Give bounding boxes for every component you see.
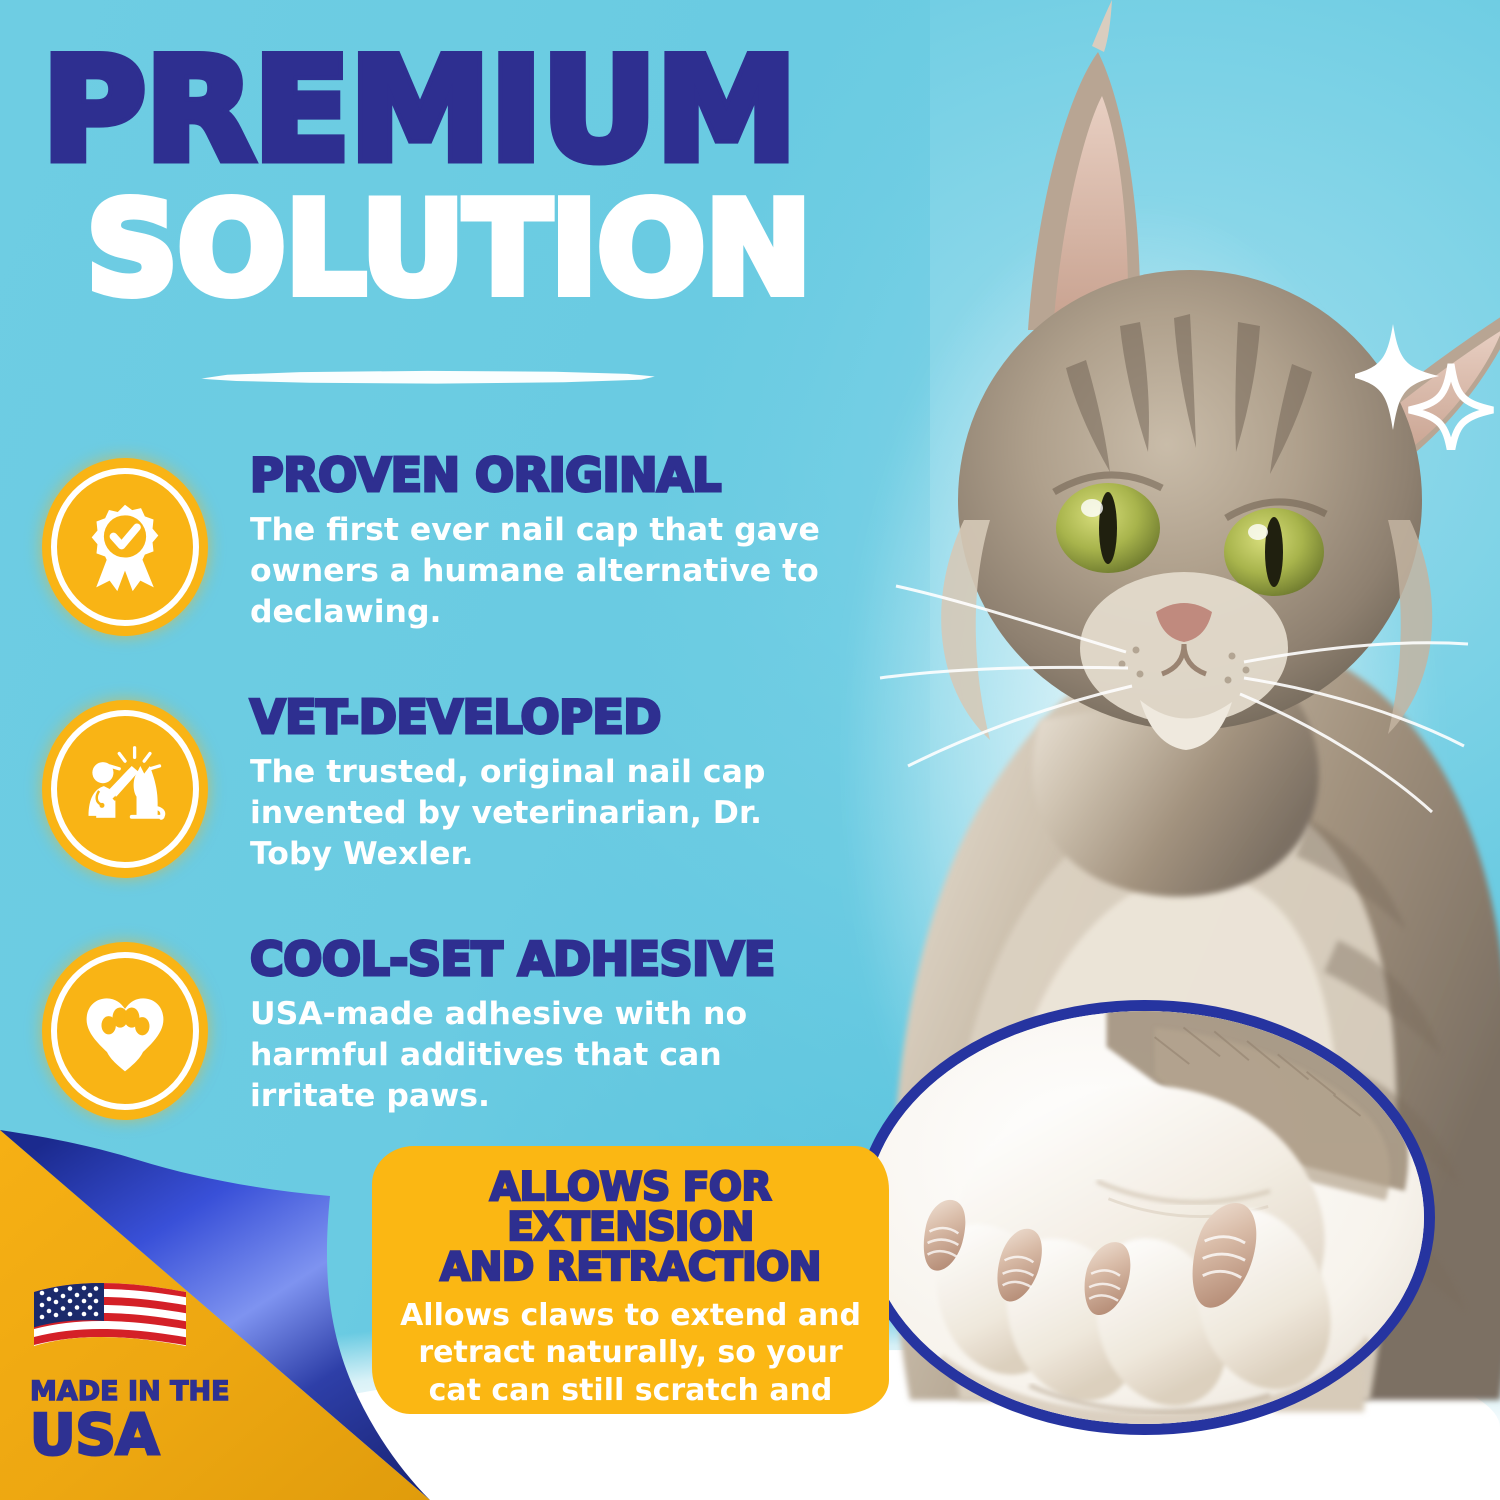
- made-in-usa-line-1: MADE IN THE: [30, 1378, 230, 1405]
- usa-flag-icon: [30, 1274, 190, 1366]
- feature-body: The trusted, original nail cap invented …: [250, 752, 840, 875]
- vet-highfive-cat-icon: [42, 700, 208, 878]
- sparkle-stars-icon: [1355, 320, 1500, 450]
- feature-list: PROVEN ORIGINAL The first ever nail cap …: [0, 452, 860, 1178]
- callout-body: Allows claws to extend and retract natur…: [392, 1297, 869, 1483]
- feature-item: COOL-SET ADHESIVE USA-made adhesive with…: [0, 936, 860, 1120]
- made-in-usa-line-2: USA: [30, 1407, 230, 1464]
- feature-body: USA-made adhesive with no harmful additi…: [250, 994, 840, 1117]
- feature-heading: VET-DEVELOPED: [250, 694, 840, 740]
- feature-icon-wrap: [0, 936, 250, 1120]
- cat-paw-with-nail-caps-closeup: [855, 1000, 1435, 1435]
- made-in-usa-badge: MADE IN THE USA: [30, 1274, 230, 1464]
- feature-text: VET-DEVELOPED The trusted, original nail…: [250, 694, 860, 875]
- callout-heading-line-2: AND RETRACTION: [392, 1248, 869, 1288]
- infographic-canvas: PREMIUM SOLUTION PROVEN ORIGINAL Th: [0, 0, 1500, 1500]
- feature-item: PROVEN ORIGINAL The first ever nail cap …: [0, 452, 860, 636]
- extension-retraction-callout: ALLOWS FOR EXTENSION AND RETRACTION Allo…: [372, 1146, 889, 1414]
- feature-body: The first ever nail cap that gave owners…: [250, 510, 840, 633]
- award-ribbon-check-icon: [42, 458, 208, 636]
- feature-icon-wrap: [0, 694, 250, 878]
- feature-item: VET-DEVELOPED The trusted, original nail…: [0, 694, 860, 878]
- callout-heading-line-1: ALLOWS FOR EXTENSION: [392, 1168, 869, 1248]
- feature-heading: PROVEN ORIGINAL: [250, 452, 840, 498]
- headline-line-2: SOLUTION: [86, 191, 872, 309]
- heart-paw-icon: [42, 942, 208, 1120]
- feature-heading: COOL-SET ADHESIVE: [250, 936, 840, 982]
- feature-text: PROVEN ORIGINAL The first ever nail cap …: [250, 452, 860, 633]
- headline-line-1: PREMIUM: [42, 46, 872, 177]
- page-title: PREMIUM SOLUTION: [42, 46, 872, 308]
- feature-text: COOL-SET ADHESIVE USA-made adhesive with…: [250, 936, 860, 1117]
- feature-icon-wrap: [0, 452, 250, 636]
